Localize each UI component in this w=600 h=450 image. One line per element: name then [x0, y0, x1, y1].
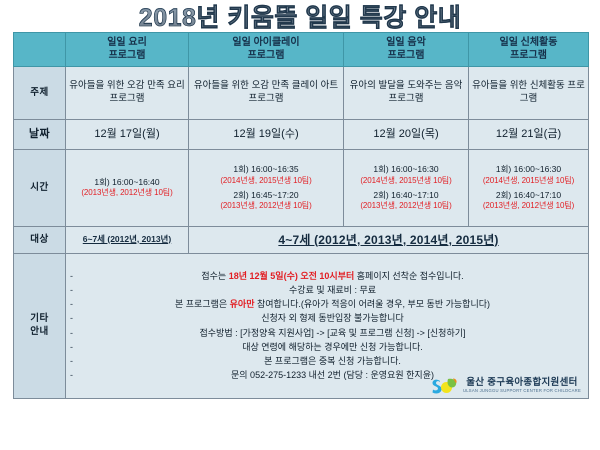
- table-row-subject: 주제 유아들을 위한 오감 만족 요리 프로그램 유아들을 위한 오감 만족 클…: [14, 67, 589, 120]
- time-session-group: (2014년생, 2015년생 10팀): [347, 176, 465, 187]
- date-cell-music: 12월 20일(목): [344, 120, 469, 150]
- page-title: 2018년 키움뜰 일일 특강 안내: [139, 0, 461, 34]
- page-title-container: 2018년 키움뜰 일일 특강 안내: [0, 0, 600, 32]
- row-label-notes: 기타 안내: [14, 254, 66, 399]
- note-item: - 접수는 18년 12월 5일(수) 오전 10시부터 홈페이지 선착순 접수…: [69, 269, 585, 283]
- column-header-line1: 일일 아이클레이: [232, 37, 299, 48]
- row-label-target: 대상: [14, 227, 66, 254]
- date-cell-physical: 12월 21일(금): [469, 120, 589, 150]
- bullet-dash-icon: -: [70, 371, 73, 380]
- note-item: - 신청자 외 형제 동반입장 불가능합니다: [69, 312, 585, 326]
- time-cell-iclay: 1회) 16:00~16:35 (2014년생, 2015년생 10팀) 2회)…: [189, 150, 344, 227]
- table-row-notes: 기타 안내 - 접수는 18년 12월 5일(수) 오전 10시부터 홈페이지 …: [14, 254, 589, 399]
- column-header-line2: 프로그램: [388, 50, 425, 61]
- bullet-dash-icon: -: [70, 286, 73, 295]
- logo-text-block: 울산 중구육아종합지원센터 ULSAN JUNGGU SUPPORT CENTE…: [463, 378, 581, 393]
- row-label-date: 날짜: [14, 120, 66, 150]
- time-session-group: (2013년생, 2012년생 10팀): [69, 188, 185, 199]
- time-cell-music: 1회) 16:00~16:30 (2014년생, 2015년생 10팀) 2회)…: [344, 150, 469, 227]
- note-text-highlight: 18년 12월 5일(수) 오전 10시부터: [229, 271, 355, 281]
- column-header-line1: 일일 신체활동: [500, 37, 558, 48]
- header-corner-cell: [14, 33, 66, 67]
- note-text-pre: 대상 연령에 해당하는 경우에만 신청 가능합니다.: [242, 342, 423, 352]
- note-text-pre: 접수는: [201, 271, 228, 281]
- target-age-merged: 4~7세 (2012년, 2013년, 2014년, 2015년): [278, 233, 498, 247]
- target-cell-cooking: 6~7세 (2012년, 2013년): [66, 227, 189, 254]
- note-item: - 본 프로그램은 유아만 참여합니다.(유아가 적응이 어려울 경우, 부모 …: [69, 298, 585, 312]
- date-cell-iclay: 12월 19일(수): [189, 120, 344, 150]
- bullet-dash-icon: -: [70, 329, 73, 338]
- column-header-line2: 프로그램: [109, 50, 146, 61]
- column-header-line2: 프로그램: [510, 50, 547, 61]
- column-header-physical: 일일 신체활동 프로그램: [469, 33, 589, 67]
- row-label-subject: 주제: [14, 67, 66, 120]
- time-session-label: 2회) 16:45~17:20: [192, 190, 340, 201]
- notes-cell: - 접수는 18년 12월 5일(수) 오전 10시부터 홈페이지 선착순 접수…: [66, 254, 589, 399]
- note-text-post: 홈페이지 선착순 접수입니다.: [354, 271, 463, 281]
- column-header-music: 일일 음악 프로그램: [344, 33, 469, 67]
- column-header-iclay: 일일 아이클레이 프로그램: [189, 33, 344, 67]
- time-session-label: 1회) 16:00~16:30: [472, 164, 585, 175]
- time-session-group: (2014년생, 2015년생 10팀): [472, 176, 585, 187]
- time-session-label: 1회) 16:00~16:30: [347, 164, 465, 175]
- target-cell-merged: 4~7세 (2012년, 2013년, 2014년, 2015년): [189, 227, 589, 254]
- time-session-group: (2013년생, 2012년생 10팀): [472, 201, 585, 212]
- table-row-time: 시간 1회) 16:00~16:40 (2013년생, 2012년생 10팀) …: [14, 150, 589, 227]
- note-text-pre: 문의 052-275-1233 내선 2번 (담당 : 운영요원 한지윤): [231, 370, 434, 380]
- time-cell-cooking: 1회) 16:00~16:40 (2013년생, 2012년생 10팀): [66, 150, 189, 227]
- note-text-post: 참여합니다.(유아가 적응이 어려울 경우, 부모 동반 가능합니다): [255, 299, 491, 309]
- time-cell-physical: 1회) 16:00~16:30 (2014년생, 2015년생 10팀) 2회)…: [469, 150, 589, 227]
- row-label-notes-line2: 안내: [30, 326, 48, 337]
- row-label-time: 시간: [14, 150, 66, 227]
- table-row-target: 대상 6~7세 (2012년, 2013년) 4~7세 (2012년, 2013…: [14, 227, 589, 254]
- target-age-first: 6~7세 (2012년, 2013년): [83, 234, 171, 244]
- logo-name-korean: 울산 중구육아종합지원센터: [463, 378, 581, 388]
- logo-name-english: ULSAN JUNGGU SUPPORT CENTER FOR CHILDCAR…: [463, 389, 581, 393]
- subject-cell-physical: 유아들을 위한 신체활동 프로그램: [469, 67, 589, 120]
- note-item: - 본 프로그램은 중복 신청 가능합니다.: [69, 354, 585, 368]
- note-item: - 접수방법 : [가정양육 지원사업] -> [교육 및 프로그램 신청] -…: [69, 326, 585, 340]
- note-text-pre: 수강료 및 재료비 : 무료: [289, 285, 376, 295]
- table-row-date: 날짜 12월 17일(월) 12월 19일(수) 12월 20일(목) 12월 …: [14, 120, 589, 150]
- table-header-row: 일일 요리 프로그램 일일 아이클레이 프로그램 일일 음악 프로그램 일일 신…: [14, 33, 589, 67]
- bullet-dash-icon: -: [70, 314, 73, 323]
- subject-cell-iclay: 유아들을 위한 오감 만족 클레이 아트 프로그램: [189, 67, 344, 120]
- time-session-group: (2013년생, 2012년생 10팀): [192, 201, 340, 212]
- time-session-label: 2회) 16:40~17:10: [347, 190, 465, 201]
- column-header-line1: 일일 요리: [107, 37, 147, 48]
- note-text-pre: 접수방법 : [가정양육 지원사업] -> [교육 및 프로그램 신청] -> …: [199, 328, 465, 338]
- subject-cell-music: 유아의 발달을 도와주는 음악 프로그램: [344, 67, 469, 120]
- bullet-dash-icon: -: [70, 272, 73, 281]
- subject-cell-cooking: 유아들을 위한 오감 만족 요리 프로그램: [66, 67, 189, 120]
- time-session-group: (2013년생, 2012년생 10팀): [347, 201, 465, 212]
- time-session-label: 2회) 16:40~17:10: [472, 190, 585, 201]
- note-item: - 수강료 및 재료비 : 무료: [69, 283, 585, 297]
- organization-logo: 울산 중구육아종합지원센터 ULSAN JUNGGU SUPPORT CENTE…: [431, 377, 581, 395]
- note-text-highlight: 유아만: [230, 299, 255, 309]
- note-text-pre: 신청자 외 형제 동반입장 불가능합니다: [261, 313, 403, 323]
- column-header-cooking: 일일 요리 프로그램: [66, 33, 189, 67]
- flyer-page: 2018년 키움뜰 일일 특강 안내 일일 요리 프로그램 일일 아이클레이 프…: [0, 0, 600, 450]
- row-label-notes-line1: 기타: [30, 313, 48, 324]
- time-session-label: 1회) 16:00~16:35: [192, 164, 340, 175]
- column-header-line1: 일일 음악: [386, 37, 426, 48]
- time-session-label: 1회) 16:00~16:40: [69, 177, 185, 188]
- bullet-dash-icon: -: [70, 343, 73, 352]
- note-item: - 대상 연령에 해당하는 경우에만 신청 가능합니다.: [69, 340, 585, 354]
- note-text-pre: 본 프로그램은 중복 신청 가능합니다.: [264, 356, 401, 366]
- date-cell-cooking: 12월 17일(월): [66, 120, 189, 150]
- bullet-dash-icon: -: [70, 300, 73, 309]
- program-schedule-table: 일일 요리 프로그램 일일 아이클레이 프로그램 일일 음악 프로그램 일일 신…: [13, 32, 589, 399]
- column-header-line2: 프로그램: [248, 50, 285, 61]
- center-logo-icon: [431, 377, 458, 395]
- time-session-group: (2014년생, 2015년생 10팀): [192, 176, 340, 187]
- note-text-pre: 본 프로그램은: [175, 299, 230, 309]
- bullet-dash-icon: -: [70, 357, 73, 366]
